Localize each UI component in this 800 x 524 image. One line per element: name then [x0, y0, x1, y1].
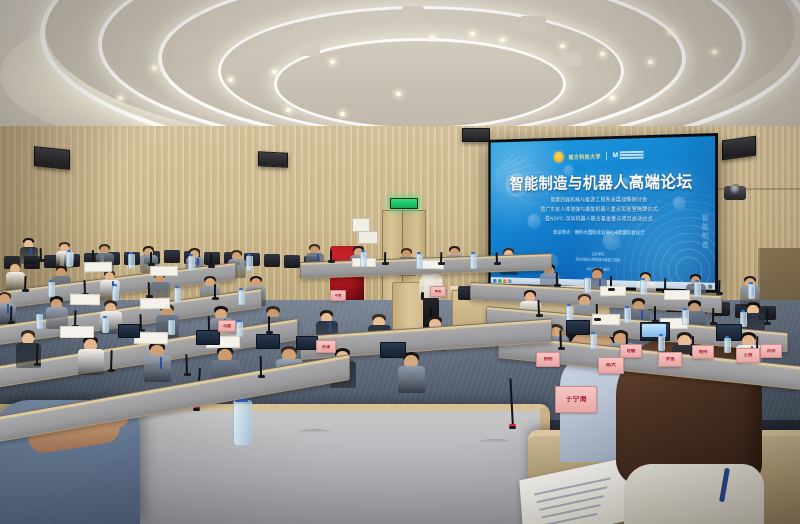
laptop — [380, 342, 406, 358]
water-bottle-cap — [585, 276, 589, 278]
water-bottle — [416, 254, 423, 269]
water-bottle-cap — [417, 252, 421, 254]
printed-handout — [60, 326, 94, 338]
ceiling-downlight-12 — [610, 96, 615, 100]
water-bottle — [112, 286, 119, 301]
microphone-base — [554, 284, 561, 287]
name-card-text: 刘洋 — [767, 349, 776, 354]
taskbar-icon-4[interactable] — [508, 279, 511, 283]
name-card: 孙涛 — [316, 340, 336, 353]
ceiling-cove-gap-1 — [402, 6, 424, 20]
microphone-base — [38, 259, 45, 262]
printed-handout — [70, 294, 100, 306]
ceiling-cove-gap-2 — [520, 16, 546, 32]
slide-subtitle-3: ·暨NSFC-深圳机器人联合基金重点项目启动仪式· — [491, 215, 715, 223]
ceiling-downlight-5 — [600, 52, 605, 56]
water-bottle-cap — [471, 252, 475, 254]
ceiling-downlight-17 — [118, 96, 123, 100]
wall-loudspeaker-center — [258, 151, 288, 168]
water-bottle-cap — [175, 286, 179, 288]
name-card-text: 王丽 — [744, 353, 753, 358]
slide-subtitle-1: ·暨第四届机械与能源工程系发展战略研讨会· — [491, 195, 715, 204]
water-bottle — [360, 252, 367, 267]
ceiling-downlight-11 — [396, 92, 401, 96]
laptop — [566, 320, 590, 335]
water-bottle — [188, 256, 195, 271]
water-bottle — [584, 278, 591, 293]
ceiling-downlight-14 — [668, 30, 673, 34]
ceiling-cove-gap-3 — [300, 44, 320, 56]
microphone-base — [8, 321, 15, 324]
ceiling-downlight-8 — [430, 36, 435, 40]
water-bottle — [36, 314, 43, 329]
water-bottle — [682, 310, 689, 325]
auditorium-chair — [284, 255, 300, 268]
ceiling-downlight-7 — [712, 50, 717, 54]
water-bottle-cap — [37, 312, 41, 314]
slide-venue-line: 会议地点：南科大国际会议中心4楼国际会议厅 — [491, 229, 715, 237]
water-bottle-cap — [683, 308, 687, 310]
water-bottle-cap — [749, 282, 753, 284]
wall-loudspeaker-left — [34, 146, 70, 170]
slide-subtitle-2: ·暨广东省人体增强与康复机器人重点实验室揭牌仪式· — [491, 205, 715, 213]
water-bottle — [566, 306, 573, 321]
water-bottle — [624, 308, 631, 323]
name-card: 杨明 — [536, 352, 560, 367]
wall-notice-lower — [358, 231, 378, 244]
water-bottle-cap — [695, 280, 699, 282]
microphone-base — [258, 375, 265, 378]
water-bottle — [238, 290, 245, 305]
name-card: 吴军 — [430, 286, 446, 297]
water-bottle-cap — [67, 250, 71, 252]
name-card-text: 周伟 — [699, 350, 708, 355]
laptop — [296, 336, 318, 350]
water-bottle-cap — [239, 288, 243, 290]
foreground-attendee-woman-body — [624, 464, 764, 524]
desk-cable-grommet-1 — [300, 429, 330, 434]
audience-member — [78, 336, 104, 376]
auditorium-chair — [264, 254, 280, 267]
lanyard-icon — [160, 357, 162, 369]
taskbar-icon-3[interactable] — [503, 279, 506, 283]
microphone-base — [34, 363, 41, 366]
name-card-text: 吴军 — [435, 290, 442, 294]
slide-title: 智能制造与机器人高端论坛 — [491, 168, 715, 194]
booklet-text-line-1 — [534, 477, 610, 495]
microphone-base — [382, 262, 389, 265]
printed-handout — [664, 290, 690, 300]
ceiling-downlight-16 — [152, 66, 157, 70]
gooseneck-microphone — [36, 344, 38, 364]
audience-member-torso — [78, 349, 104, 375]
microphone-base-center — [509, 426, 516, 429]
microphone-base — [108, 369, 115, 372]
water-bottle — [658, 336, 665, 351]
water-bottle-foreground — [233, 400, 252, 446]
taskbar-start-icon[interactable] — [493, 278, 496, 282]
taskbar-icon-2[interactable] — [498, 279, 501, 283]
microphone-ring-center — [509, 424, 516, 426]
water-bottle — [590, 334, 597, 349]
audience-member — [398, 352, 425, 394]
audience-member-torso — [398, 366, 425, 393]
water-bottle-cap — [625, 306, 629, 308]
microphone-base — [438, 262, 445, 265]
water-bottle — [470, 254, 477, 269]
partner-logo-mark: M — [613, 152, 618, 159]
booklet-text-line-2 — [537, 486, 608, 502]
water-bottle-cap — [725, 336, 729, 338]
ceiling-downlight-2 — [272, 70, 277, 74]
conference-hall-photo: 南方科技大学 M 智能制造与机器人高端论坛 ·暨第四届机械与能源工程系发展战略研… — [0, 0, 800, 524]
name-card: 冯雪 — [330, 290, 346, 301]
lanyard-icon — [197, 258, 199, 266]
name-card-text: 赵敏 — [627, 349, 636, 354]
partner-logo-bars — [620, 151, 644, 160]
name-card-text: 于宁海 — [566, 396, 587, 403]
partner-logo: M — [613, 151, 644, 160]
ceiling-downlight-15 — [340, 112, 345, 116]
water-bottle-cap — [113, 284, 117, 286]
gooseneck-microphone — [654, 306, 656, 321]
microphone-base — [208, 265, 215, 268]
name-card: 李强 — [658, 352, 682, 367]
microphone-base — [328, 260, 335, 263]
water-bottle — [694, 282, 701, 297]
ceiling-downlight-1 — [330, 60, 335, 64]
wall-loudspeaker-screenleft — [462, 128, 490, 142]
microphone-base — [594, 318, 601, 321]
lanyard-icon — [7, 304, 9, 314]
name-card-text: 马超 — [223, 324, 231, 328]
microphone-base — [22, 289, 29, 292]
audience-member — [46, 296, 68, 330]
gooseneck-microphone — [148, 282, 150, 296]
printed-handout — [140, 298, 170, 310]
audience-member-torso — [144, 355, 171, 382]
water-bottle-cap — [247, 254, 251, 256]
printed-handout — [84, 262, 112, 272]
lanyard-icon — [329, 322, 331, 332]
name-card: 刘洋 — [760, 344, 782, 358]
ceiling-downlight-3 — [228, 78, 233, 82]
wall-notice-upper — [352, 218, 370, 232]
microphone-base — [764, 322, 771, 325]
name-card-text: 李强 — [666, 357, 675, 362]
water-bottle-cap — [741, 310, 745, 312]
name-card: 陈大 — [598, 357, 624, 374]
water-bottle-cap — [641, 278, 645, 280]
slide-vertical-text: 智能制造 — [699, 214, 709, 250]
microphone-base — [608, 288, 615, 291]
ceiling-downlight-13 — [286, 108, 291, 112]
microphone-base — [494, 262, 501, 265]
water-bottle — [724, 338, 731, 353]
ceiling-downlight-9 — [500, 38, 505, 42]
university-emblem-icon — [554, 152, 564, 163]
microphone-base — [716, 292, 723, 295]
name-card: 于宁海 — [555, 386, 597, 413]
name-card-text: 冯雪 — [335, 294, 342, 298]
slide-logo-row: 南方科技大学 M — [491, 148, 715, 164]
name-card: 王丽 — [736, 348, 760, 363]
audience-member — [144, 342, 171, 383]
water-bottle — [174, 288, 181, 303]
ceiling-downlight-4 — [560, 44, 565, 48]
gooseneck-microphone — [214, 284, 216, 298]
laptop — [196, 330, 220, 345]
microphone-base-left — [193, 408, 200, 411]
printed-handout — [150, 266, 178, 276]
water-bottle-cap — [237, 320, 241, 322]
water-bottle — [748, 284, 755, 299]
gooseneck-microphone — [10, 306, 12, 322]
ceiling-cove-gap-4 — [560, 52, 582, 66]
water-bottle-cap — [361, 250, 365, 252]
auditorium-chair — [164, 250, 180, 263]
desk-cable-grommet-2 — [480, 439, 510, 444]
water-bottle — [48, 282, 55, 297]
exit-sign-icon — [390, 198, 418, 209]
taskbar-tray-icon[interactable] — [708, 284, 712, 288]
microphone-base — [558, 347, 565, 350]
water-bottle-cap — [591, 332, 595, 334]
ceiling-downlight-10 — [470, 32, 475, 36]
gooseneck-microphone — [268, 316, 270, 332]
logo-separator-icon — [606, 152, 607, 161]
water-bottle — [102, 318, 109, 333]
ceiling-downlight-6 — [648, 60, 653, 64]
university-logo-text: 南方科技大学 — [569, 152, 601, 160]
laptop — [118, 324, 140, 338]
water-bottle-cap — [49, 280, 53, 282]
microphone-base — [184, 373, 191, 376]
microphone-base — [212, 297, 219, 300]
lanyard-icon — [641, 310, 643, 320]
gooseneck-microphone — [260, 356, 262, 376]
water-bottle — [128, 254, 135, 269]
name-card: 周伟 — [692, 345, 714, 359]
water-bottle — [246, 256, 253, 271]
name-card: 马超 — [218, 320, 236, 332]
water-bottle-cap — [189, 254, 193, 256]
water-bottle-cap — [567, 304, 571, 306]
water-bottle — [640, 280, 647, 295]
water-bottle — [168, 320, 175, 335]
name-card-text: 陈大 — [606, 363, 616, 368]
name-card: 赵敏 — [620, 344, 642, 358]
water-bottle-cap — [169, 318, 173, 320]
microphone-base — [536, 314, 543, 317]
laptop — [256, 334, 280, 349]
name-card-text: 杨明 — [544, 357, 553, 362]
name-card-text: 孙涛 — [322, 345, 330, 349]
water-bottle-cap — [129, 252, 133, 254]
water-bottle — [66, 252, 73, 267]
gooseneck-microphone — [712, 308, 714, 323]
water-bottle-cap — [659, 334, 663, 336]
ptz-camera-icon — [730, 184, 741, 195]
water-bottle-cap — [103, 316, 107, 318]
